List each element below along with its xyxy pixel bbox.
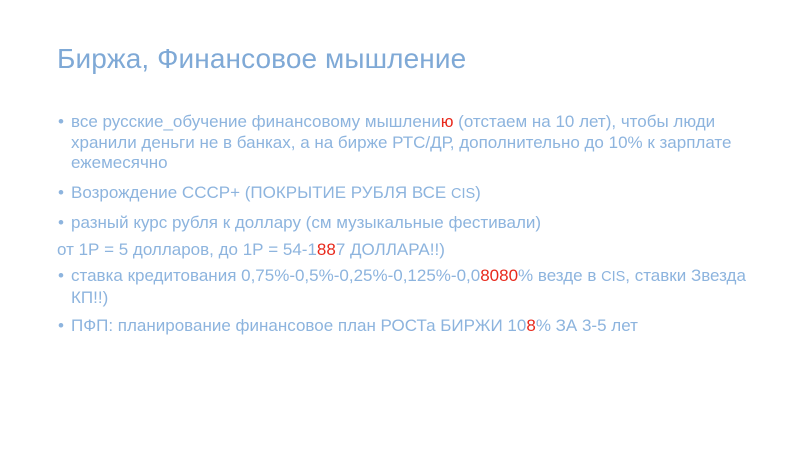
slide-title: Биржа, Финансовое мышление bbox=[57, 42, 757, 76]
slide-body: • все русские_обучение финансовому мышле… bbox=[57, 112, 757, 338]
spacer bbox=[57, 205, 757, 213]
list-item: • разный курс рубля к доллару (см музыка… bbox=[57, 213, 757, 234]
bullet-glyph-icon: • bbox=[58, 183, 64, 204]
bullet-glyph-icon: • bbox=[58, 213, 64, 234]
spacer bbox=[57, 175, 757, 183]
bullet-1-text: все русские_обучение финансовому мышлени… bbox=[71, 112, 731, 172]
bullet-2-text: Возрождение СССР+ (ПОКРЫТИЕ РУБЛЯ ВСЕ CI… bbox=[71, 183, 481, 202]
bullet-4-text: ставка кредитования 0,75%-0,5%-0,25%-0,1… bbox=[71, 266, 746, 307]
bullet-3-text: разный курс рубля к доллару (см музыкаль… bbox=[71, 213, 541, 232]
presentation-slide: Биржа, Финансовое мышление • все русские… bbox=[0, 0, 800, 450]
list-item: • ставка кредитования 0,75%-0,5%-0,25%-0… bbox=[57, 266, 757, 308]
bullet-5-text: ПФП: планирование финансовое план РОСТа … bbox=[71, 316, 638, 335]
plain-line-text: от 1Р = 5 долларов, до 1Р = 54-1887 ДОЛЛ… bbox=[57, 240, 445, 259]
spacer bbox=[57, 309, 757, 316]
bullet-glyph-icon: • bbox=[58, 316, 64, 337]
list-item: • все русские_обучение финансовому мышле… bbox=[57, 112, 757, 174]
list-item: • ПФП: планирование финансовое план РОСТ… bbox=[57, 316, 757, 337]
bullet-glyph-icon: • bbox=[58, 112, 64, 133]
continuation-line: от 1Р = 5 долларов, до 1Р = 54-1887 ДОЛЛ… bbox=[57, 240, 757, 261]
list-item: • Возрождение СССР+ (ПОКРЫТИЕ РУБЛЯ ВСЕ … bbox=[57, 183, 757, 205]
bullet-glyph-icon: • bbox=[58, 266, 64, 287]
